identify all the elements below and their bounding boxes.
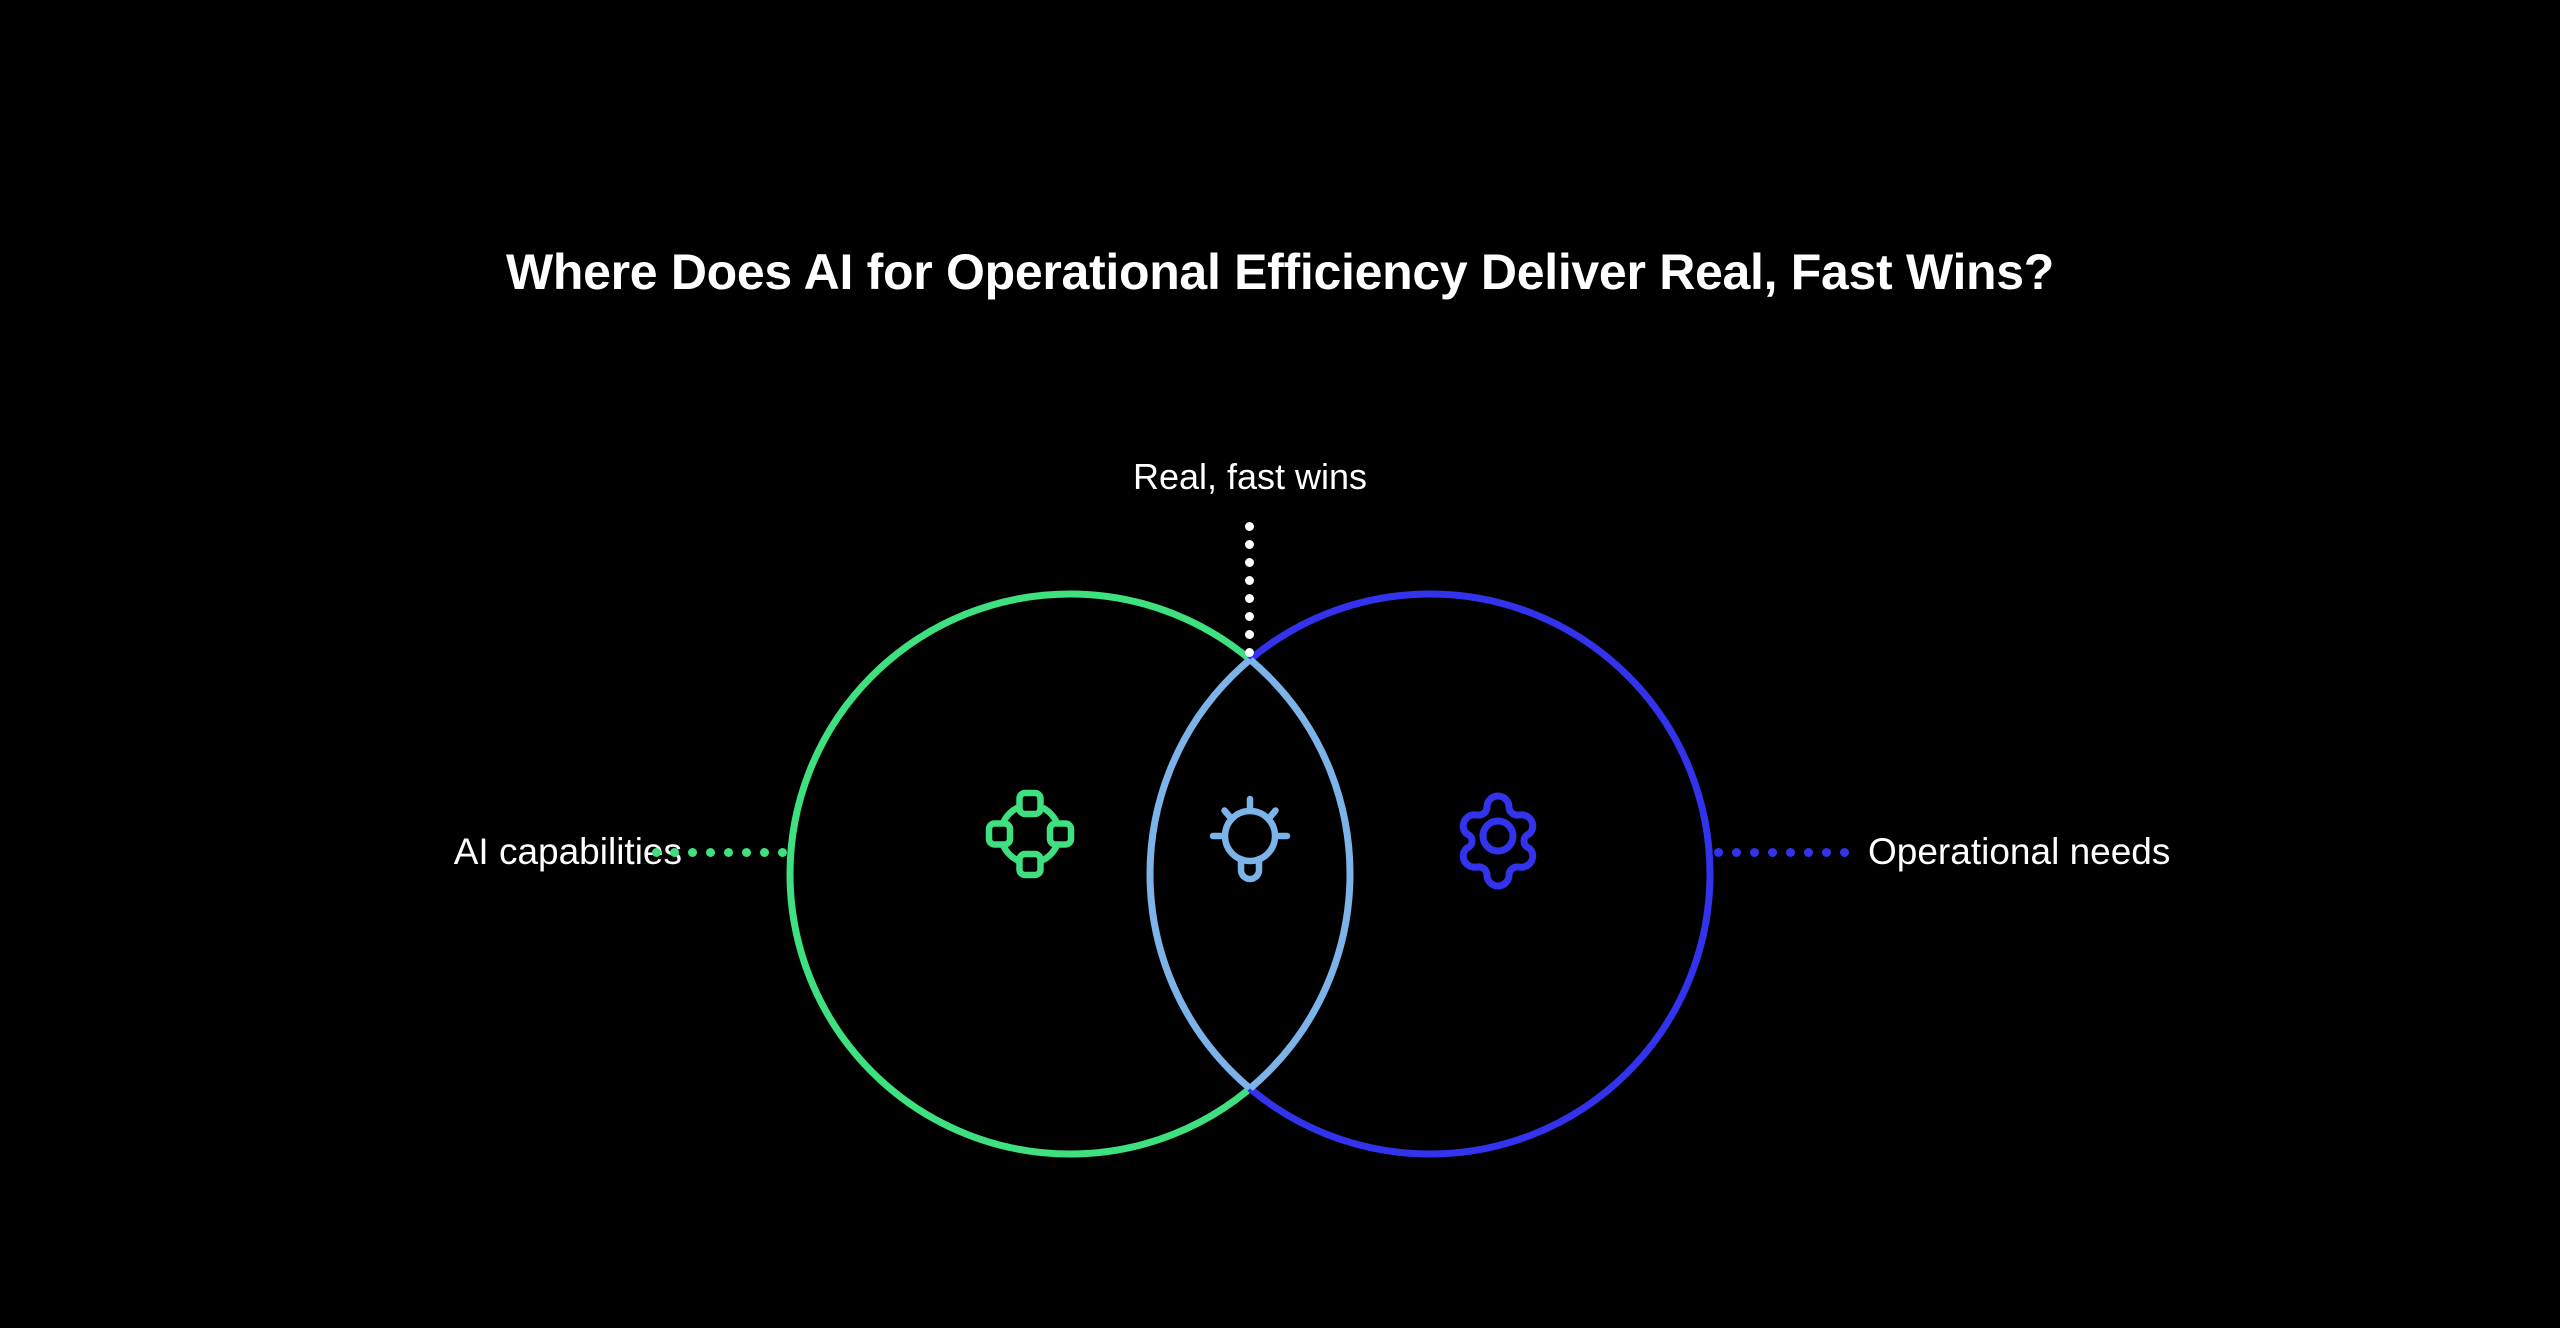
dot — [1245, 522, 1254, 531]
dot — [1822, 848, 1831, 857]
dot — [670, 848, 679, 857]
label-ai-capabilities: AI capabilities — [454, 831, 682, 873]
intersection-label: Real, fast wins — [1133, 456, 1367, 498]
connector-dots-right — [1714, 848, 1848, 857]
venn-intersection-lens — [790, 594, 1710, 1154]
dot — [760, 848, 769, 857]
dot — [652, 848, 661, 857]
dot — [1840, 848, 1849, 857]
dot — [1245, 558, 1254, 567]
dot — [1786, 848, 1795, 857]
connector-dots-left — [652, 848, 786, 857]
dot — [706, 848, 715, 857]
connector-dots-top — [1245, 522, 1254, 652]
venn-diagram-graphic — [0, 0, 2560, 1328]
dot — [778, 848, 787, 857]
dot — [1245, 612, 1254, 621]
dot — [1714, 848, 1723, 857]
gear-icon — [1463, 796, 1533, 886]
dot — [742, 848, 751, 857]
dot — [1732, 848, 1741, 857]
nodes-circle-icon — [989, 793, 1071, 875]
dot — [688, 848, 697, 857]
dot — [1245, 540, 1254, 549]
dot — [1768, 848, 1777, 857]
dot — [1245, 630, 1254, 639]
label-operational-needs: Operational needs — [1868, 831, 2170, 873]
dot — [1804, 848, 1813, 857]
lightbulb-icon — [1213, 799, 1287, 879]
dot — [1245, 648, 1254, 657]
diagram-canvas: Where Does AI for Operational Efficiency… — [0, 0, 2560, 1328]
dot — [1750, 848, 1759, 857]
dot — [724, 848, 733, 857]
dot — [1245, 594, 1254, 603]
dot — [1245, 576, 1254, 585]
